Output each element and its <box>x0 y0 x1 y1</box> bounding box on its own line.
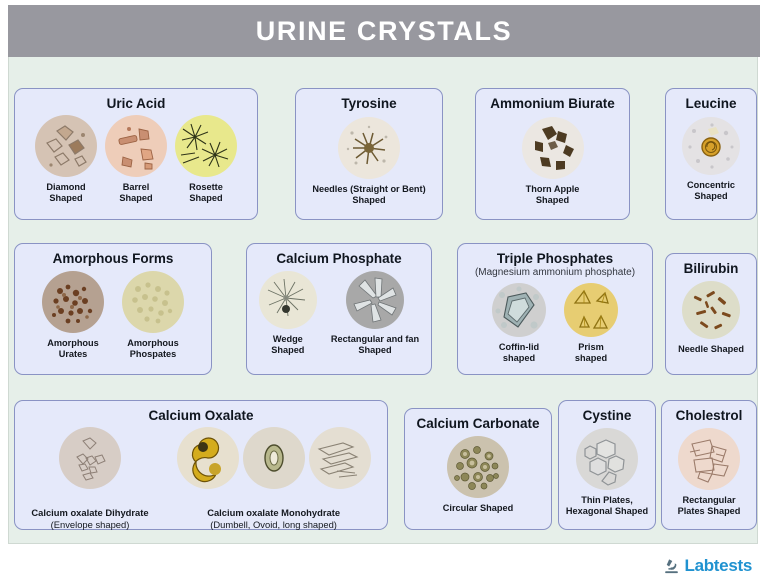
group-monohydrate: Calcium oxalate Monohydrate (Dumbell, Ov… <box>177 427 371 541</box>
micrograph-barrel <box>105 115 167 177</box>
long-crystal-icon <box>309 427 371 489</box>
envelope-crystal-icon <box>59 427 121 489</box>
card-bilirubin[interactable]: Bilirubin <box>665 253 757 375</box>
specimen-caption: Needle Shaped <box>678 344 744 355</box>
specimen-rosette: Rosette Shaped <box>175 115 237 204</box>
specimen-caption: Circular Shaped <box>443 503 513 514</box>
micrograph-prism <box>564 283 618 337</box>
card-subtitle: (Magnesium ammonium phosphate) <box>475 267 635 278</box>
brand-logo[interactable]: Labtests <box>662 556 752 576</box>
micrograph-calcium-carbonate <box>447 436 509 498</box>
card-leucine[interactable]: Leucine <box>665 88 757 220</box>
specimen-row: Diamond Shaped Barrel Sh <box>15 115 257 219</box>
specimen-row: Calcium oxalate Dihydrate (Envelope shap… <box>15 427 387 541</box>
specimen-wedge: Wedge Shaped <box>259 271 317 356</box>
hexagonal-plate-icon <box>576 428 638 490</box>
specimen-caption: Rectangular and fan Shaped <box>331 334 419 356</box>
granular-texture-icon <box>42 271 104 333</box>
specimen-caption: Diamond Shaped <box>46 182 85 204</box>
card-calcium-phosphate[interactable]: Calcium Phosphate Wedge Shaped <box>246 243 432 375</box>
micrograph-cholestrol <box>678 428 740 490</box>
group-caption: Calcium oxalate Dihydrate (Envelope shap… <box>31 496 148 541</box>
card-title: Amorphous Forms <box>53 251 174 266</box>
crystal-shapes-icon <box>105 115 167 177</box>
wedge-crystal-icon <box>259 271 317 329</box>
specimen-thorn-apple: Thorn Apple Shaped <box>522 117 584 206</box>
specimen-caption: Rectangular Plates Shaped <box>678 495 741 517</box>
specimen-caption: Rosette Shaped <box>189 182 223 204</box>
ovoid-crystal-icon <box>243 427 305 489</box>
card-title: Triple Phosphates <box>497 251 613 266</box>
micrograph-amorphous-phosphates <box>122 271 184 333</box>
micrograph-oxalate-dumbell <box>177 427 239 489</box>
micrograph-coffin-lid <box>492 283 546 337</box>
specimen-diamond: Diamond Shaped <box>35 115 97 204</box>
card-title: Calcium Oxalate <box>148 408 253 423</box>
specimen-caption: Amorphous Phospates <box>127 338 179 360</box>
card-cystine[interactable]: Cystine Thin Plates, Hexagonal Shaped <box>558 400 656 530</box>
specimen-coffin-lid: Coffin-lid shaped <box>492 283 546 364</box>
card-calcium-oxalate[interactable]: Calcium Oxalate <box>14 400 388 530</box>
card-cholestrol[interactable]: Cholestrol Rectangular P <box>661 400 757 530</box>
card-amorphous-forms[interactable]: Amorphous Forms <box>14 243 212 375</box>
microscope-icon <box>662 557 681 576</box>
card-triple-phosphates[interactable]: Triple Phosphates (Magnesium ammonium ph… <box>457 243 653 375</box>
card-title: Calcium Phosphate <box>276 251 401 266</box>
specimen-barrel: Barrel Shaped <box>105 115 167 204</box>
specimen-amorphous-phosphates: Amorphous Phospates <box>122 271 184 360</box>
specimen-row: Needle Shaped <box>666 281 756 374</box>
fan-crystal-icon <box>346 271 404 329</box>
group-caption-main: Calcium oxalate Dihydrate <box>31 507 148 518</box>
micrograph-amorphous-urates <box>42 271 104 333</box>
micrograph-cystine <box>576 428 638 490</box>
specimen-row: Concentric Shaped <box>666 117 756 219</box>
specimen-row: Needles (Straight or Bent) Shaped <box>296 117 442 219</box>
specimen-rectangular-plates: Rectangular Plates Shaped <box>678 428 741 517</box>
micrograph-rosette <box>175 115 237 177</box>
card-title: Bilirubin <box>684 261 739 276</box>
brand-name: Labtests <box>684 556 752 576</box>
thorn-apple-crystal-icon <box>522 117 584 179</box>
specimen-row: Amorphous Urates Amorphous Phospates <box>15 271 211 374</box>
group-dihydrate: Calcium oxalate Dihydrate (Envelope shap… <box>31 427 148 541</box>
micrograph-wedge <box>259 271 317 329</box>
specimen-row: Wedge Shaped <box>247 271 431 374</box>
specimen-concentric: Concentric Shaped <box>682 117 740 202</box>
specimen-needles: Needles (Straight or Bent) Shaped <box>312 117 425 206</box>
specimen-hexagonal: Thin Plates, Hexagonal Shaped <box>566 428 648 517</box>
micrograph-diamond <box>35 115 97 177</box>
group-caption: Calcium oxalate Monohydrate (Dumbell, Ov… <box>207 496 340 541</box>
rosette-crystal-icon <box>175 115 237 177</box>
card-title: Cystine <box>583 408 632 423</box>
specimen-caption: Thin Plates, Hexagonal Shaped <box>566 495 648 517</box>
group-caption-sub: (Envelope shaped) <box>31 519 148 530</box>
specimen-amorphous-urates: Amorphous Urates <box>42 271 104 360</box>
header-bar: URINE CRYSTALS <box>8 5 760 57</box>
specimen-caption: Wedge Shaped <box>271 334 304 356</box>
specimen-rectangular-fan: Rectangular and fan Shaped <box>331 271 419 356</box>
page-title: URINE CRYSTALS <box>256 16 512 47</box>
micrograph-bilirubin <box>682 281 740 339</box>
card-title: Leucine <box>685 96 736 111</box>
specimen-row: Thin Plates, Hexagonal Shaped <box>559 428 655 529</box>
coffin-lid-crystal-icon <box>492 283 546 337</box>
crystal-shapes-icon <box>35 115 97 177</box>
needle-cluster-icon <box>338 117 400 179</box>
card-uric-acid[interactable]: Uric Acid Dia <box>14 88 258 220</box>
card-title: Uric Acid <box>107 96 166 111</box>
card-ammonium-biurate[interactable]: Ammonium Biurate <box>475 88 630 220</box>
specimen-prism: Prism shaped <box>564 283 618 364</box>
dumbell-crystal-icon <box>177 427 239 489</box>
granular-texture-icon <box>122 271 184 333</box>
card-calcium-carbonate[interactable]: Calcium Carbonate <box>404 408 552 530</box>
micrograph-tyrosine <box>338 117 400 179</box>
micrograph-leucine <box>682 117 740 175</box>
card-tyrosine[interactable]: Tyrosine <box>295 88 443 220</box>
specimen-caption: Coffin-lid shaped <box>499 342 539 364</box>
specimen-circular: Circular Shaped <box>443 436 513 514</box>
micrograph-oxalate-ovoid <box>243 427 305 489</box>
specimen-caption: Barrel Shaped <box>119 182 152 204</box>
specimen-row: Rectangular Plates Shaped <box>662 428 756 529</box>
micrograph-rectangular-fan <box>346 271 404 329</box>
concentric-crystal-icon <box>682 117 740 175</box>
group-caption-sub: (Dumbell, Ovoid, long shaped) <box>207 519 340 530</box>
card-title: Cholestrol <box>676 408 743 423</box>
specimen-row: Coffin-lid shaped <box>458 283 652 374</box>
specimen-needle: Needle Shaped <box>678 281 744 355</box>
infographic-root: URINE CRYSTALS Uric Acid <box>0 0 768 586</box>
specimen-row: Circular Shaped <box>405 436 551 529</box>
card-title: Ammonium Biurate <box>490 96 615 111</box>
specimen-caption: Concentric Shaped <box>687 180 735 202</box>
card-title: Calcium Carbonate <box>416 416 539 431</box>
micrograph-oxalate-dihydrate <box>59 427 121 489</box>
micrograph-ammonium-biurate <box>522 117 584 179</box>
specimen-caption: Thorn Apple Shaped <box>526 184 580 206</box>
specimen-row: Thorn Apple Shaped <box>476 117 629 219</box>
specimen-caption: Needles (Straight or Bent) Shaped <box>312 184 425 206</box>
circular-crystal-icon <box>447 436 509 498</box>
card-title: Tyrosine <box>341 96 396 111</box>
group-caption-main: Calcium oxalate Monohydrate <box>207 507 340 518</box>
needle-crystal-icon <box>682 281 740 339</box>
micrograph-oxalate-long <box>309 427 371 489</box>
prism-crystal-icon <box>564 283 618 337</box>
specimen-caption: Prism shaped <box>575 342 607 364</box>
rectangular-plate-icon <box>678 428 740 490</box>
specimen-caption: Amorphous Urates <box>47 338 99 360</box>
